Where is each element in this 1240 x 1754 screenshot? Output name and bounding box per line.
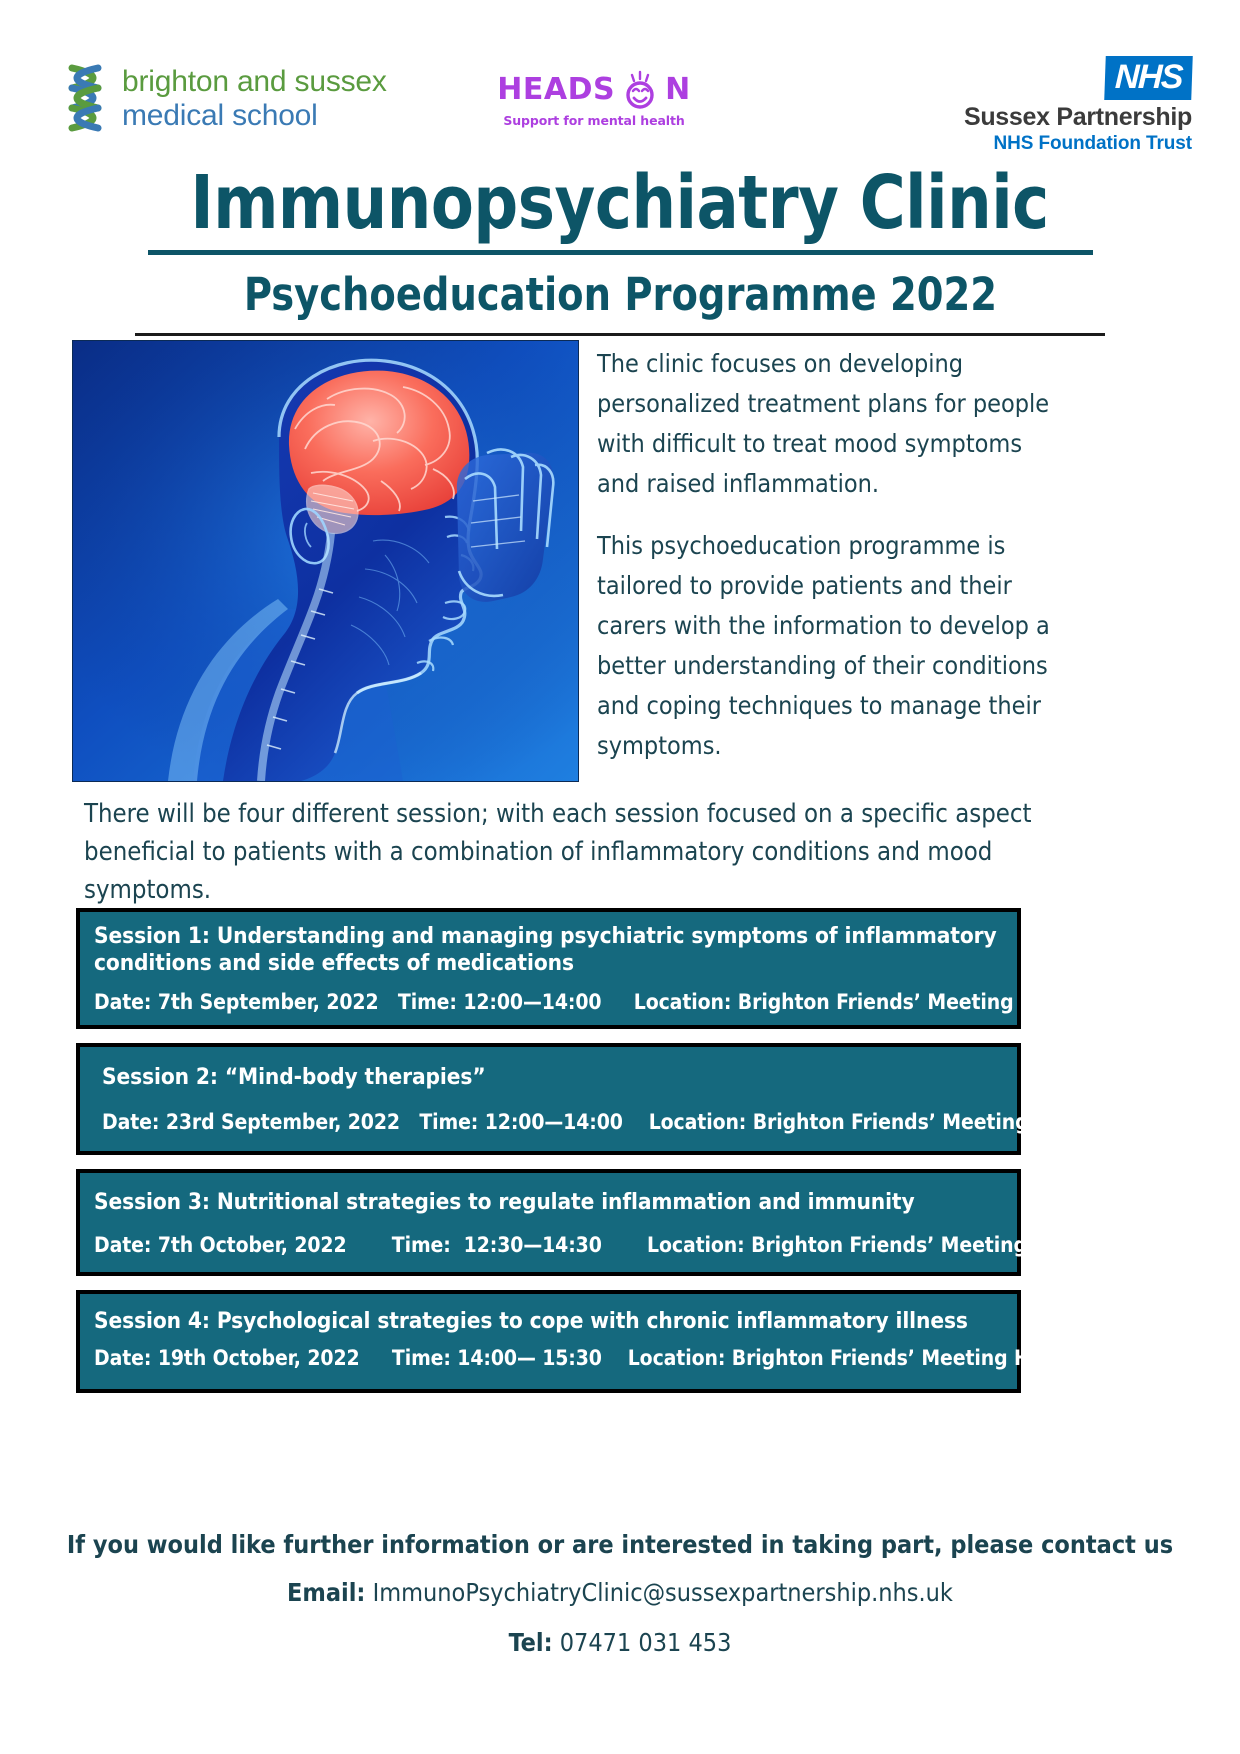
session-2-meta: Date: 23rd September, 2022 Time: 12:00—1… <box>102 1109 1001 1135</box>
session-4-meta: Date: 19th October, 2022 Time: 14:00— 15… <box>94 1345 1001 1371</box>
medical-illustration-head-brain <box>72 340 579 782</box>
nhs-foundation-trust-label: NHS Foundation Trust <box>922 133 1192 155</box>
hero-paragraph-2: This psychoeducation programme is tailor… <box>597 526 1067 766</box>
heads-on-tagline: Support for mental health <box>494 113 694 128</box>
nhs-badge: NHS <box>1104 56 1193 100</box>
logo-bar: brighton and sussex medical school HEADS <box>0 48 1240 148</box>
bsms-logo: brighton and sussex medical school <box>62 62 387 136</box>
nhs-trust-name: Sussex Partnership <box>922 103 1192 132</box>
session-3-title: Session 3: Nutritional strategies to reg… <box>94 1189 1001 1216</box>
tel-label: Tel: <box>509 1628 553 1657</box>
subtitle-divider <box>135 333 1105 336</box>
hero-copy: The clinic focuses on developing persona… <box>597 344 1067 788</box>
heads-on-logo: HEADS N Support for mental health <box>494 70 694 128</box>
dna-helix-icon <box>62 62 108 136</box>
bsms-line-2: medical school <box>122 99 387 133</box>
session-1-title: Session 1: Understanding and managing ps… <box>94 923 1001 977</box>
contact-footer: If you would like further information or… <box>0 1528 1240 1662</box>
page-subtitle: Psychoeducation Programme 2022 <box>243 267 996 323</box>
title-underline <box>148 250 1093 255</box>
page-title: Immunopsychiatry Clinic <box>191 160 1049 246</box>
intro-paragraph: There will be four different session; wi… <box>84 795 1044 909</box>
contact-tel-row: Tel: 07471 031 453 <box>0 1624 1240 1662</box>
poster-header: Immunopsychiatry Clinic Psychoeducation … <box>0 160 1240 336</box>
session-card-2: Session 2: “Mind-body therapies” Date: 2… <box>76 1043 1021 1155</box>
session-2-title: Session 2: “Mind-body therapies” <box>102 1064 1001 1091</box>
session-card-4: Session 4: Psychological strategies to c… <box>76 1290 1021 1393</box>
session-1-meta: Date: 7th September, 2022 Time: 12:00—14… <box>94 989 1001 1015</box>
session-list: Session 1: Understanding and managing ps… <box>76 908 1021 1407</box>
session-card-3: Session 3: Nutritional strategies to reg… <box>76 1169 1021 1276</box>
bsms-wordmark: brighton and sussex medical school <box>122 65 387 132</box>
email-label: Email: <box>287 1578 365 1607</box>
smiley-face-icon <box>621 70 659 110</box>
session-4-title: Session 4: Psychological strategies to c… <box>94 1308 1001 1335</box>
hero-paragraph-1: The clinic focuses on developing persona… <box>597 344 1067 504</box>
email-address[interactable]: ImmunoPsychiatryClinic@sussexpartnership… <box>373 1578 953 1607</box>
heads-on-word-n: N <box>665 75 691 105</box>
tel-number[interactable]: 07471 031 453 <box>560 1628 732 1657</box>
heads-on-word-heads: HEADS <box>497 75 615 105</box>
session-card-1: Session 1: Understanding and managing ps… <box>76 908 1021 1029</box>
bsms-line-1: brighton and sussex <box>122 65 387 99</box>
heads-on-wordmark: HEADS N <box>494 70 694 110</box>
contact-email-row: Email: ImmunoPsychiatryClinic@sussexpart… <box>0 1574 1240 1612</box>
session-3-meta: Date: 7th October, 2022 Time: 12:30—14:3… <box>94 1232 1001 1258</box>
poster-page: brighton and sussex medical school HEADS <box>0 0 1240 1754</box>
nhs-logo: NHS Sussex Partnership NHS Foundation Tr… <box>922 56 1192 155</box>
contact-lead-text: If you would like further information or… <box>0 1528 1240 1562</box>
